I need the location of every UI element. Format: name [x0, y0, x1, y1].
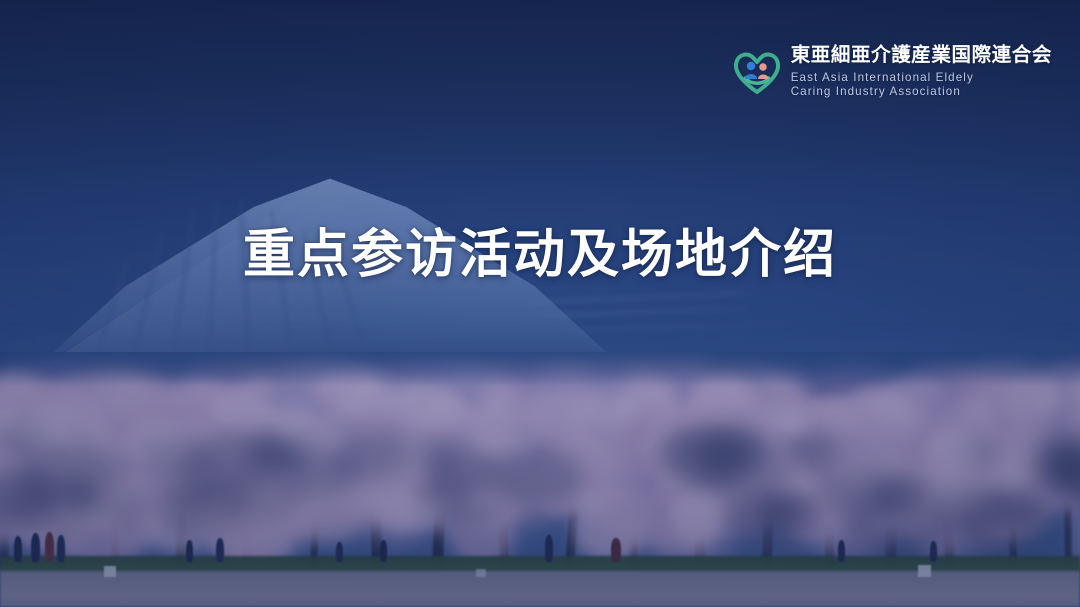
sign-marker [476, 569, 486, 577]
heart-with-two-people-icon [732, 47, 782, 97]
canopy-shadow [818, 466, 902, 521]
canopy-shadow [143, 435, 210, 479]
canopy-shadow [762, 499, 817, 535]
canopy-shadow [17, 443, 120, 510]
sign-marker [918, 565, 931, 577]
person-figure [45, 532, 54, 562]
canopy-shadow [440, 498, 496, 534]
logo-name-en-line1: East Asia International Eldely [791, 71, 1052, 85]
blossom-highlight [667, 363, 707, 391]
person-figure [31, 533, 40, 562]
sign-marker [104, 566, 116, 577]
canopy-shadow [959, 435, 1004, 464]
blossom-highlight [762, 373, 799, 399]
person-figure [57, 535, 65, 562]
blossom-highlight [339, 400, 370, 422]
canopy-shadow [418, 434, 467, 466]
canopy-shadow [488, 447, 582, 508]
person-figure [838, 540, 845, 562]
logo-text-block: 東亜細亜介護産業国際連合会 East Asia International El… [791, 46, 1052, 99]
presentation-slide: 重点参访活动及场地介绍 東亜細亜介護産業国際連合会 East Asia Inte… [0, 0, 1080, 607]
cherry-blossom-canopy [0, 352, 1080, 567]
person-figure [930, 541, 937, 562]
page-title: 重点参访活动及场地介绍 [0, 226, 1080, 284]
logo-name-cn: 東亜細亜介護産業国際連合会 [791, 46, 1052, 66]
blossom-highlight [436, 370, 514, 425]
blossom-cluster [839, 428, 890, 471]
organization-logo: 東亜細亜介護産業国際連合会 East Asia International El… [732, 46, 1052, 99]
person-figure [611, 538, 621, 562]
blossom-highlight [759, 403, 805, 435]
blossom-cluster [672, 491, 729, 544]
blossom-highlight [604, 367, 671, 414]
person-figure [380, 540, 387, 562]
blossom-cluster [218, 397, 256, 429]
logo-name-en: East Asia International Eldely Caring In… [791, 71, 1052, 99]
person-figure [186, 540, 193, 562]
person-figure [216, 538, 224, 562]
blossom-highlight [1029, 398, 1065, 423]
person-figure [336, 542, 343, 562]
blossom-cluster [920, 395, 974, 431]
canopy-shadow [787, 432, 840, 466]
person-figure [545, 535, 553, 562]
blossom-highlight [879, 400, 923, 431]
blossom-highlight [281, 357, 343, 400]
canopy-shadow [705, 440, 795, 499]
person-figure [14, 536, 22, 562]
canopy-shadow [153, 475, 247, 536]
logo-name-en-line2: Caring Industry Association [791, 85, 1052, 99]
